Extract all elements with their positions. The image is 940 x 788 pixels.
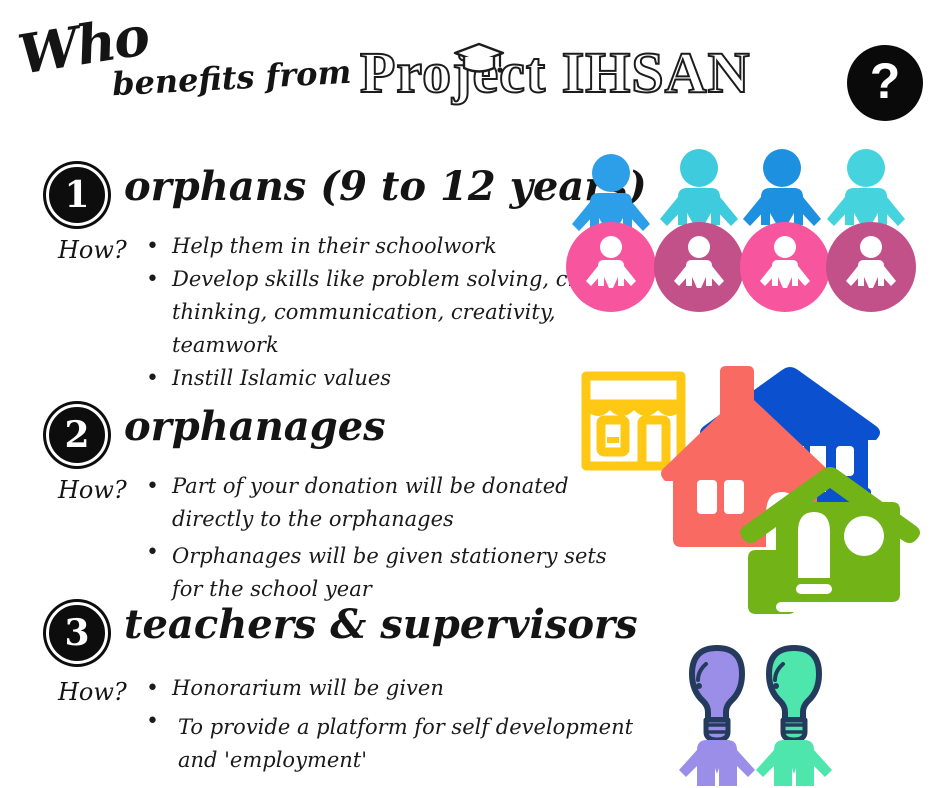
graduation-cap-icon [452, 42, 506, 76]
orphanage-houses-illustration [570, 362, 938, 622]
child-circle-icon-mauve-2 [654, 222, 744, 312]
section-2-heading: 2 orphanages [0, 402, 660, 464]
list-item: To provide a platform for self developme… [146, 705, 646, 777]
child-figure-cyan-2 [660, 149, 738, 227]
section-1-heading: 1 orphans (9 to 12 years) [0, 162, 660, 224]
bullet-list-3: Honorarium will be given To provide a pl… [146, 672, 646, 777]
section-3-heading: 3 teachers & supervisors [0, 600, 660, 662]
section-orphans: 1 orphans (9 to 12 years) How? Help them… [0, 162, 660, 224]
child-figure-cyan-4 [827, 149, 905, 227]
bullet-list-2: Part of your donation will be donated di… [146, 470, 636, 606]
header-word-benefits: benefits from [111, 56, 352, 100]
how-label-2: How? [58, 476, 127, 504]
lightbulb-person-purple [679, 648, 755, 786]
list-item: Orphanages will be given stationery sets… [146, 536, 636, 606]
child-figure-blue-1 [572, 154, 650, 232]
lightbulb-person-mint [756, 648, 832, 786]
section-number-badge-1: 1 [46, 164, 108, 226]
section-teachers: 3 teachers & supervisors How? Honorarium… [0, 600, 660, 662]
list-item: Part of your donation will be donated di… [146, 470, 636, 536]
section-orphanages: 2 orphanages How? Part of your donation … [0, 402, 660, 464]
section-number-label: 1 [64, 177, 89, 213]
header: Who benefits from Project IHSAN ? [0, 0, 940, 140]
section-number-label: 2 [64, 417, 89, 453]
section-title-2: orphanages [124, 402, 386, 452]
how-label-1: How? [58, 236, 127, 264]
how-label-3: How? [58, 678, 127, 706]
question-mark-label: ? [870, 56, 901, 106]
list-item: Honorarium will be given [146, 672, 646, 705]
question-mark-badge: ? [847, 45, 923, 121]
child-figure-blue-3 [743, 149, 821, 227]
shop-icon-yellow [586, 376, 681, 466]
section-number-badge-3: 3 [46, 602, 108, 664]
child-circle-icon-mauve-4 [826, 222, 916, 312]
child-circle-icon-pink-1 [566, 222, 656, 312]
children-circle-icons-illustration [566, 222, 926, 312]
section-number-badge-2: 2 [46, 404, 108, 466]
header-word-project-ihsan: Project IHSAN [360, 44, 750, 102]
section-title-3: teachers & supervisors [124, 600, 638, 650]
child-circle-icon-pink-3 [740, 222, 830, 312]
lightbulb-people-illustration [672, 642, 852, 788]
section-number-label: 3 [64, 615, 89, 651]
infographic-canvas: Who benefits from Project IHSAN ? 1 orph… [0, 0, 940, 788]
